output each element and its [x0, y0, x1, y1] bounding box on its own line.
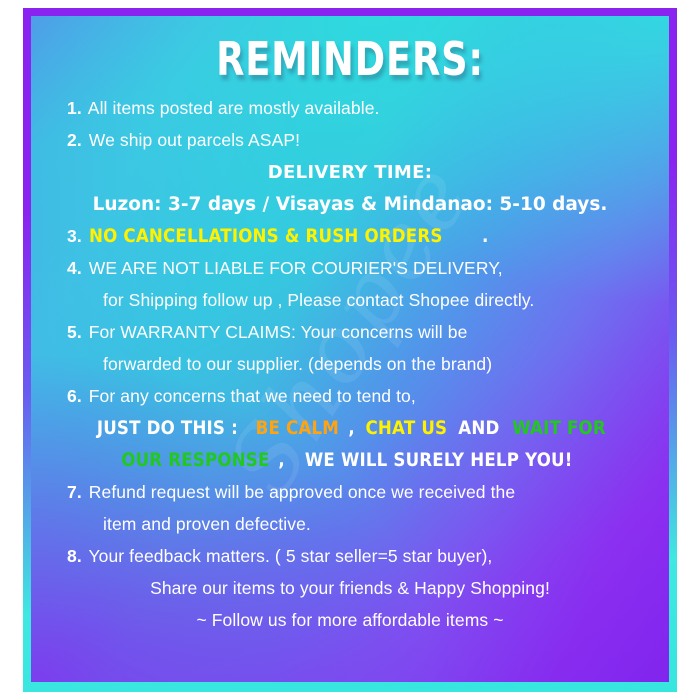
follow-us-footer: ~ Follow us for more affordable items ~ [47, 610, 653, 631]
item-5-number: 5. [67, 322, 82, 342]
follow-us-text: ~ Follow us for more affordable items ~ [196, 610, 503, 630]
item-3-number: 3. [67, 226, 82, 246]
reminder-item-3: 3. NO CANCELLATIONS & RUSH ORDERS. [47, 226, 653, 247]
call-to-action-line-2: OUR RESPONSE, WE WILL SURELY HELP YOU! [47, 450, 653, 471]
item-2-number: 2. [67, 130, 82, 150]
delivery-time-detail-row: Luzon: 3-7 days / Visayas & Mindanao: 5-… [47, 194, 653, 215]
item-1-number: 1. [67, 98, 82, 118]
item-7-text-line-2: item and proven defective. [103, 514, 311, 534]
item-8-text-line-1: Your feedback matters. ( 5 star seller=5… [88, 546, 492, 566]
item-6-number: 6. [67, 386, 82, 406]
delivery-time-heading-row: DELIVERY TIME: [47, 162, 653, 183]
delivery-time-detail: Luzon: 3-7 days / Visayas & Mindanao: 5-… [93, 194, 608, 215]
reminder-item-5-cont: forwarded to our supplier. (depends on t… [47, 354, 653, 375]
cta-be-calm: BE CALM [255, 418, 338, 439]
reminder-item-7: 7. Refund request will be approved once … [47, 482, 653, 503]
item-3-period: . [482, 226, 489, 247]
cta-help-you: WE WILL SURELY HELP YOU! [305, 450, 573, 471]
page-title: REMINDERS: [108, 34, 593, 84]
item-8-text-line-2: Share our items to your friends & Happy … [150, 578, 550, 598]
poster-content: REMINDERS: 1. All items posted are mostl… [31, 16, 669, 682]
cta-and: AND [459, 418, 500, 439]
item-2-text: We ship out parcels ASAP! [89, 130, 300, 150]
cta-wait-for: WAIT FOR [512, 418, 606, 439]
item-4-number: 4. [67, 258, 82, 278]
reminder-item-4: 4. WE ARE NOT LIABLE FOR COURIER'S DELIV… [47, 258, 653, 279]
reminder-item-6: 6. For any concerns that we need to tend… [47, 386, 653, 407]
item-7-text-line-1: Refund request will be approved once we … [89, 482, 515, 502]
cta-comma-1: , [349, 418, 356, 439]
reminder-item-8: 8. Your feedback matters. ( 5 star selle… [47, 546, 653, 567]
item-4-text-line-1: WE ARE NOT LIABLE FOR COURIER'S DELIVERY… [89, 258, 503, 278]
reminder-item-2: 2. We ship out parcels ASAP! [47, 130, 653, 151]
cta-our-response: OUR RESPONSE [121, 450, 269, 471]
call-to-action-line-1: JUST DO THIS : BE CALM , CHAT US AND WAI… [47, 418, 653, 439]
reminder-item-8-cont: Share our items to your friends & Happy … [47, 578, 653, 599]
reminder-item-7-cont: item and proven defective. [47, 514, 653, 535]
item-5-text-line-2: forwarded to our supplier. (depends on t… [103, 354, 492, 374]
item-7-number: 7. [67, 482, 82, 502]
item-3-text: NO CANCELLATIONS & RUSH ORDERS [89, 226, 443, 247]
cta-comma-2: , [278, 450, 285, 471]
reminder-item-5: 5. For WARRANTY CLAIMS: Your concerns wi… [47, 322, 653, 343]
reminder-item-4-cont: for Shipping follow up , Please contact … [47, 290, 653, 311]
item-4-text-line-2: for Shipping follow up , Please contact … [103, 290, 534, 310]
reminder-item-1: 1. All items posted are mostly available… [47, 98, 653, 119]
reminders-poster: Shopee REMINDERS: 1. All items posted ar… [0, 0, 700, 700]
item-1-text: All items posted are mostly available. [88, 98, 380, 118]
item-8-number: 8. [67, 546, 82, 566]
cta-chat-us: CHAT US [365, 418, 447, 439]
item-6-text: For any concerns that we need to tend to… [89, 386, 416, 406]
poster-border-frame: Shopee REMINDERS: 1. All items posted ar… [23, 8, 677, 692]
poster-panel: Shopee REMINDERS: 1. All items posted ar… [31, 16, 669, 682]
item-5-text-line-1: For WARRANTY CLAIMS: Your concerns will … [89, 322, 468, 342]
delivery-time-heading: DELIVERY TIME: [268, 162, 432, 183]
cta-just-do-this: JUST DO THIS : [97, 418, 238, 439]
